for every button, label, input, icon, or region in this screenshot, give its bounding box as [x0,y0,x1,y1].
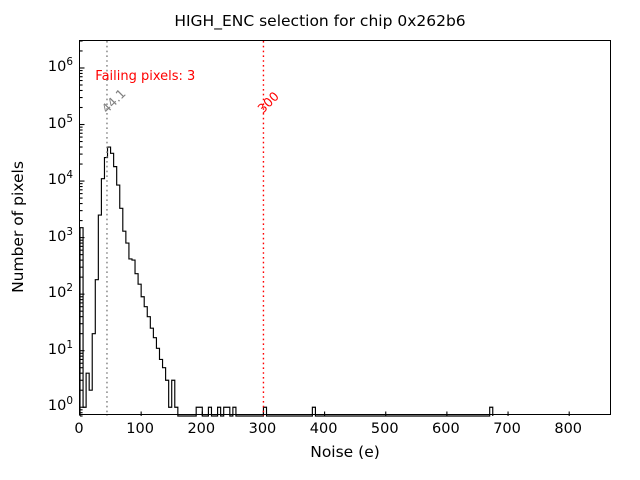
y-tick-label: 105 [48,116,73,132]
x-tick-label: 200 [187,421,215,437]
x-tick-label: 500 [371,421,399,437]
plot-area: Failing pixels: 3 44.1 300 [79,40,611,415]
failing-pixels-annotation: Failing pixels: 3 [95,69,195,84]
x-tick-label: 400 [310,421,338,437]
x-tick-label: 100 [126,421,154,437]
plot-canvas [80,41,612,416]
y-axis-label: Number of pixels [9,127,27,327]
y-tick-label: 104 [48,172,73,188]
chart-title: HIGH_ENC selection for chip 0x262b6 [0,12,640,30]
x-tick-label: 0 [74,421,83,437]
x-tick-label: 600 [432,421,460,437]
y-tick-label: 101 [48,342,73,358]
y-tick-label: 106 [48,59,73,75]
histogram-step-line [80,147,493,416]
histogram-figure: HIGH_ENC selection for chip 0x262b6 Numb… [0,0,640,480]
x-tick-label: 800 [554,421,582,437]
x-tick-label: 300 [249,421,277,437]
x-tick-label: 700 [493,421,521,437]
y-tick-label: 103 [48,229,73,245]
y-tick-label: 100 [48,398,73,414]
y-tick-label: 102 [48,285,73,301]
x-axis-label: Noise (e) [310,443,380,461]
axis-ticks-group [80,41,569,416]
